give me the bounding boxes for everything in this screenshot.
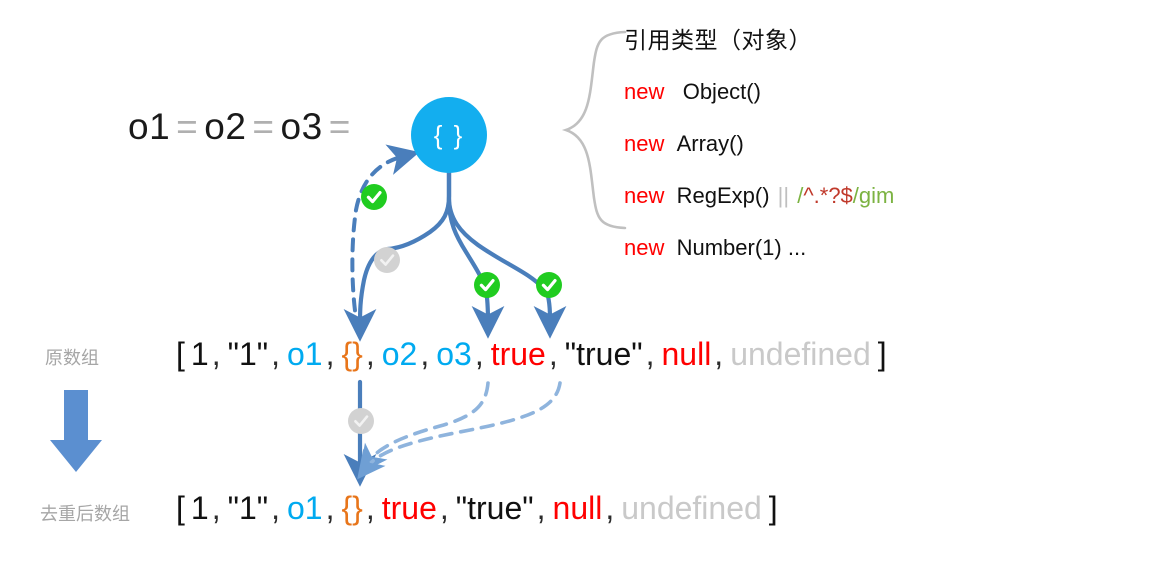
array-dedup-item-2: o1 (285, 490, 325, 526)
diagram-canvas: o1=o2=o3= { } 引用类型（对象） new Object() new … (0, 0, 1163, 571)
array-original-sep-5: , (474, 336, 489, 372)
array-dedup-sep-5: , (536, 490, 551, 526)
legend-expr-number: Number(1) ... (677, 235, 807, 260)
array-original-sep-0: , (211, 336, 226, 372)
label-dedup-array: 去重后数组 (40, 500, 130, 526)
array-original-item-5: o3 (434, 336, 474, 372)
dashed-arrow-o1-to-object (352, 156, 404, 330)
legend-curly-brace (566, 32, 625, 228)
arrow-solid-to-o3 (547, 292, 550, 322)
array-dedup-sep-4: , (439, 490, 454, 526)
dashed-arrow-o2-to-dedup (368, 383, 488, 462)
array-original-item-8: null (659, 336, 713, 372)
equation-o1: o1 (128, 106, 170, 147)
array-original-item-7: "true" (563, 336, 645, 372)
equation-o3: o3 (281, 106, 323, 147)
array-original-sep-1: , (270, 336, 285, 372)
object-node-label: { } (434, 120, 465, 151)
arrow-solid-to-o1 (360, 249, 388, 325)
arrow-solid-to-o2 (486, 290, 488, 322)
array-dedup-item-0: 1 (189, 490, 211, 526)
equation-equals-1: = (170, 106, 204, 147)
legend-keyword-new-4: new (624, 235, 664, 260)
legend-keyword-new-1: new (624, 79, 664, 104)
array-original-item-9: undefined (728, 336, 873, 372)
check-badge-brace (374, 247, 400, 273)
array-original-sep-8: , (713, 336, 728, 372)
array-original-sep-2: , (325, 336, 340, 372)
array-original-item-3: {} (339, 336, 364, 372)
legend-expr-array: Array() (677, 131, 744, 156)
array-dedup-item-3: {} (339, 490, 364, 526)
array-dedup-sep-1: , (270, 490, 285, 526)
array-original-sep-6: , (548, 336, 563, 372)
object-node-circle[interactable]: { } (411, 97, 487, 173)
array-original-item-4: o2 (380, 336, 420, 372)
legend-keyword-new-3: new (624, 183, 664, 208)
equation-equals-3: = (323, 106, 357, 147)
legend-expr-regexp: RegExp() (677, 183, 770, 208)
array-dedup-item-4: true (380, 490, 439, 526)
legend-row-object: new Object() (624, 66, 894, 118)
check-badge-o2-check-icon (481, 281, 493, 290)
legend-row-array: new Array() (624, 118, 894, 170)
array-original-sep-7: , (645, 336, 660, 372)
array-dedup-item-5: "true" (454, 490, 536, 526)
check-badge-o3 (536, 272, 562, 298)
branch-to-brace (388, 173, 449, 249)
check-badge-o3-check-icon (543, 281, 555, 290)
array-original-item-1: "1" (226, 336, 271, 372)
down-arrow-dedup (50, 390, 102, 472)
array-dedup-item-7: undefined (619, 490, 764, 526)
equation-o2: o2 (204, 106, 246, 147)
connector-layer (0, 0, 1163, 571)
legend-keyword-new-2: new (624, 131, 664, 156)
equation-equals-2: = (246, 106, 280, 147)
legend-title: 引用类型（对象） (624, 14, 894, 66)
legend-row-number: new Number(1) ... (624, 222, 894, 274)
array-original-item-2: o1 (285, 336, 325, 372)
array-original-item-6: true (489, 336, 548, 372)
array-dedup-sep-6: , (604, 490, 619, 526)
branch-to-o3 (449, 173, 543, 288)
legend-row-regexp: new RegExp() || /^.*?$/gim (624, 170, 894, 222)
array-dedup-item-1: "1" (226, 490, 271, 526)
array-original-sep-4: , (419, 336, 434, 372)
legend-regex-body: ^.*?$ (803, 183, 852, 208)
label-original-array: 原数组 (45, 344, 99, 370)
array-dedup-item-6: null (551, 490, 605, 526)
reference-type-legend: 引用类型（对象） new Object() new Array() new Re… (624, 14, 894, 274)
check-badge-o2 (474, 272, 500, 298)
legend-regex-flags: gim (859, 183, 894, 208)
check-badge-dedup-check-icon (355, 417, 367, 426)
array-dedup-sep-2: , (325, 490, 340, 526)
array-dedup-sep-3: , (365, 490, 380, 526)
array-dedup-sep-0: , (211, 490, 226, 526)
check-badge-o1-check-icon (368, 193, 380, 202)
equation-o1-o2-o3: o1=o2=o3= (128, 106, 357, 148)
check-badge-o1 (361, 184, 387, 210)
check-badge-dedup (348, 408, 374, 434)
check-badge-brace-check-icon (381, 256, 393, 265)
badge-layer (0, 0, 1163, 571)
array-original-open-bracket: [ (176, 336, 189, 372)
array-dedup-open-bracket: [ (176, 490, 189, 526)
array-original-item-0: 1 (189, 336, 211, 372)
legend-expr-object: Object() (683, 79, 761, 104)
array-original-sep-3: , (365, 336, 380, 372)
array-original-close-bracket: ] (873, 336, 887, 372)
array-dedup: [1,"1",o1,{},true,"true",null,undefined] (176, 490, 778, 527)
array-dedup-close-bracket: ] (764, 490, 778, 526)
branch-to-o2 (449, 173, 486, 290)
legend-pipe-separator: || (776, 183, 791, 208)
array-original: [1,"1",o1,{},o2,o3,true,"true",null,unde… (176, 336, 887, 373)
dashed-arrow-o3-to-dedup (366, 383, 560, 468)
